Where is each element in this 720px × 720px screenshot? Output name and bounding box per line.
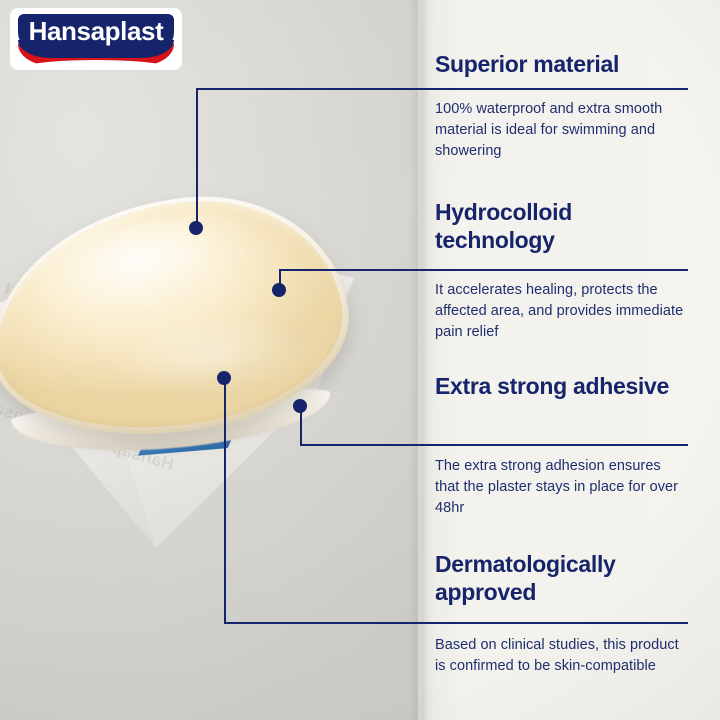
connector-line-4-vertical — [224, 378, 226, 622]
logo-wordmark: Hansaplast — [10, 14, 182, 48]
feature-1-body: 100% waterproof and extra smooth materia… — [435, 99, 687, 162]
feature-1-title: Superior material — [435, 50, 687, 78]
infographic-canvas: Hansaplast Hansaplast Hansaplast Hansapl… — [0, 0, 720, 720]
feature-4-body: Based on clinical studies, this product … — [435, 635, 687, 677]
feature-4-title: Dermatologically approved — [435, 550, 687, 606]
feature-section-2: Hydrocolloid technology — [435, 198, 687, 254]
feature-section-3: Extra strong adhesive — [435, 372, 687, 400]
callout-dot-1 — [189, 221, 203, 235]
callout-dot-3 — [293, 399, 307, 413]
callout-dot-2 — [272, 283, 286, 297]
connector-line-4-horizontal — [224, 622, 688, 624]
panel-divider-shadow — [408, 0, 434, 720]
hansaplast-logo: Hansaplast — [10, 8, 182, 70]
feature-2-body-wrap: It accelerates healing, protects the aff… — [435, 280, 687, 343]
feature-1-body-wrap: 100% waterproof and extra smooth materia… — [435, 99, 687, 162]
feature-3-body-wrap: The extra strong adhesion ensures that t… — [435, 456, 687, 519]
feature-3-body: The extra strong adhesion ensures that t… — [435, 456, 687, 519]
callout-dot-4 — [217, 371, 231, 385]
hydrocolloid-pad — [0, 200, 348, 432]
feature-section-1: Superior material — [435, 50, 687, 78]
feature-4-body-wrap: Based on clinical studies, this product … — [435, 635, 687, 677]
connector-line-1-vertical — [196, 88, 198, 230]
feature-2-title: Hydrocolloid technology — [435, 198, 687, 254]
product-image: Hansaplast Hansaplast Hansaplast Hansapl… — [0, 190, 400, 590]
feature-2-body: It accelerates healing, protects the aff… — [435, 280, 687, 343]
feature-3-title: Extra strong adhesive — [435, 372, 687, 400]
feature-section-4: Dermatologically approved — [435, 550, 687, 606]
connector-line-2-horizontal — [279, 269, 688, 271]
connector-line-3-horizontal — [300, 444, 688, 446]
connector-line-1-horizontal — [196, 88, 688, 90]
